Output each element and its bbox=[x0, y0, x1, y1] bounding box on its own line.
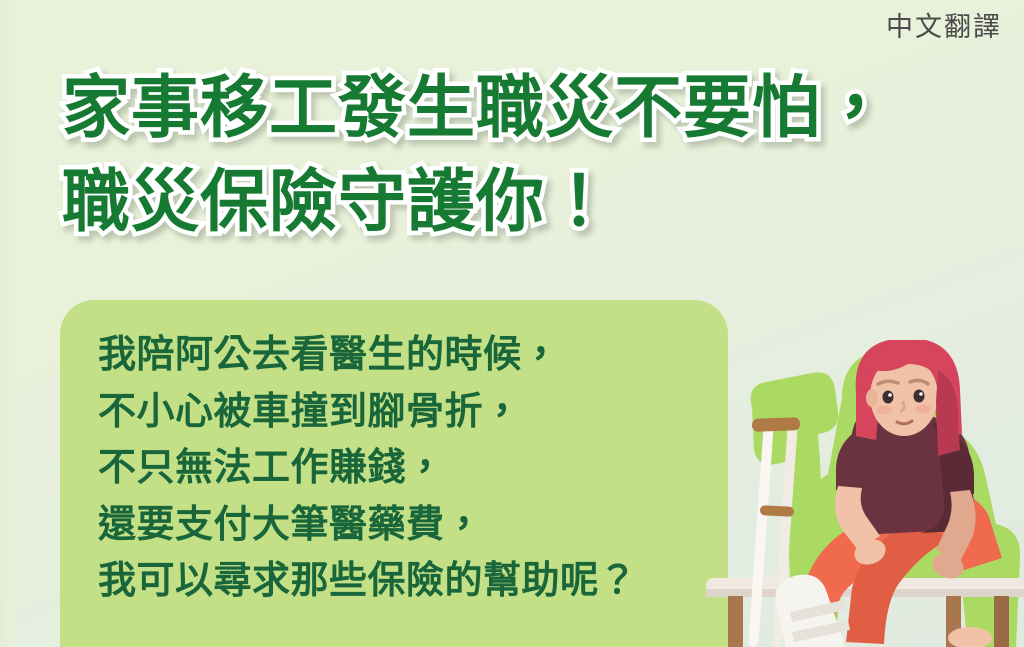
headline-line-1: 家事移工發生職災不要怕， bbox=[62, 62, 962, 156]
left-edge-band bbox=[0, 0, 14, 647]
headline-block: 家事移工發生職災不要怕， 職災保險守護你！ bbox=[62, 62, 962, 250]
bench-leg-far-right bbox=[994, 596, 1009, 647]
panel-text-block: 我陪阿公去看醫生的時候， 不小心被車撞到腳骨折， 不只無法工作賺錢， 還要支付大… bbox=[98, 326, 718, 609]
crutch-armpit-pad bbox=[752, 417, 800, 432]
eye-right-highlight bbox=[919, 392, 923, 396]
crutch-handle bbox=[760, 505, 794, 517]
eye-left-highlight bbox=[888, 393, 892, 397]
eye-right bbox=[914, 390, 925, 403]
panel-line-4: 還要支付大筆醫藥費， bbox=[98, 496, 718, 553]
bench-leg-left bbox=[728, 596, 743, 647]
blush-left bbox=[876, 406, 892, 415]
panel-line-2: 不小心被車撞到腳骨折， bbox=[98, 383, 718, 440]
green-message-panel: 我陪阿公去看醫生的時候， 不小心被車撞到腳骨折， 不只無法工作賺錢， 還要支付大… bbox=[60, 300, 728, 647]
panel-line-1: 我陪阿公去看醫生的時候， bbox=[98, 326, 718, 383]
headline-line-2: 職災保險守護你！ bbox=[62, 156, 962, 250]
illustration-svg bbox=[700, 340, 1024, 647]
ear bbox=[866, 389, 878, 407]
illustration-injured-woman bbox=[700, 340, 1024, 647]
eye-left bbox=[883, 391, 894, 404]
chinese-translation-label: 中文翻譯 bbox=[886, 14, 1002, 41]
panel-line-3: 不只無法工作賺錢， bbox=[98, 439, 718, 496]
poster-canvas: 中文翻譯 家事移工發生職災不要怕， 職災保險守護你！ 我陪阿公去看醫生的時候， … bbox=[0, 0, 1024, 647]
blush-right bbox=[915, 405, 931, 414]
panel-line-5: 我可以尋求那些保險的幫助呢？ bbox=[98, 552, 718, 609]
